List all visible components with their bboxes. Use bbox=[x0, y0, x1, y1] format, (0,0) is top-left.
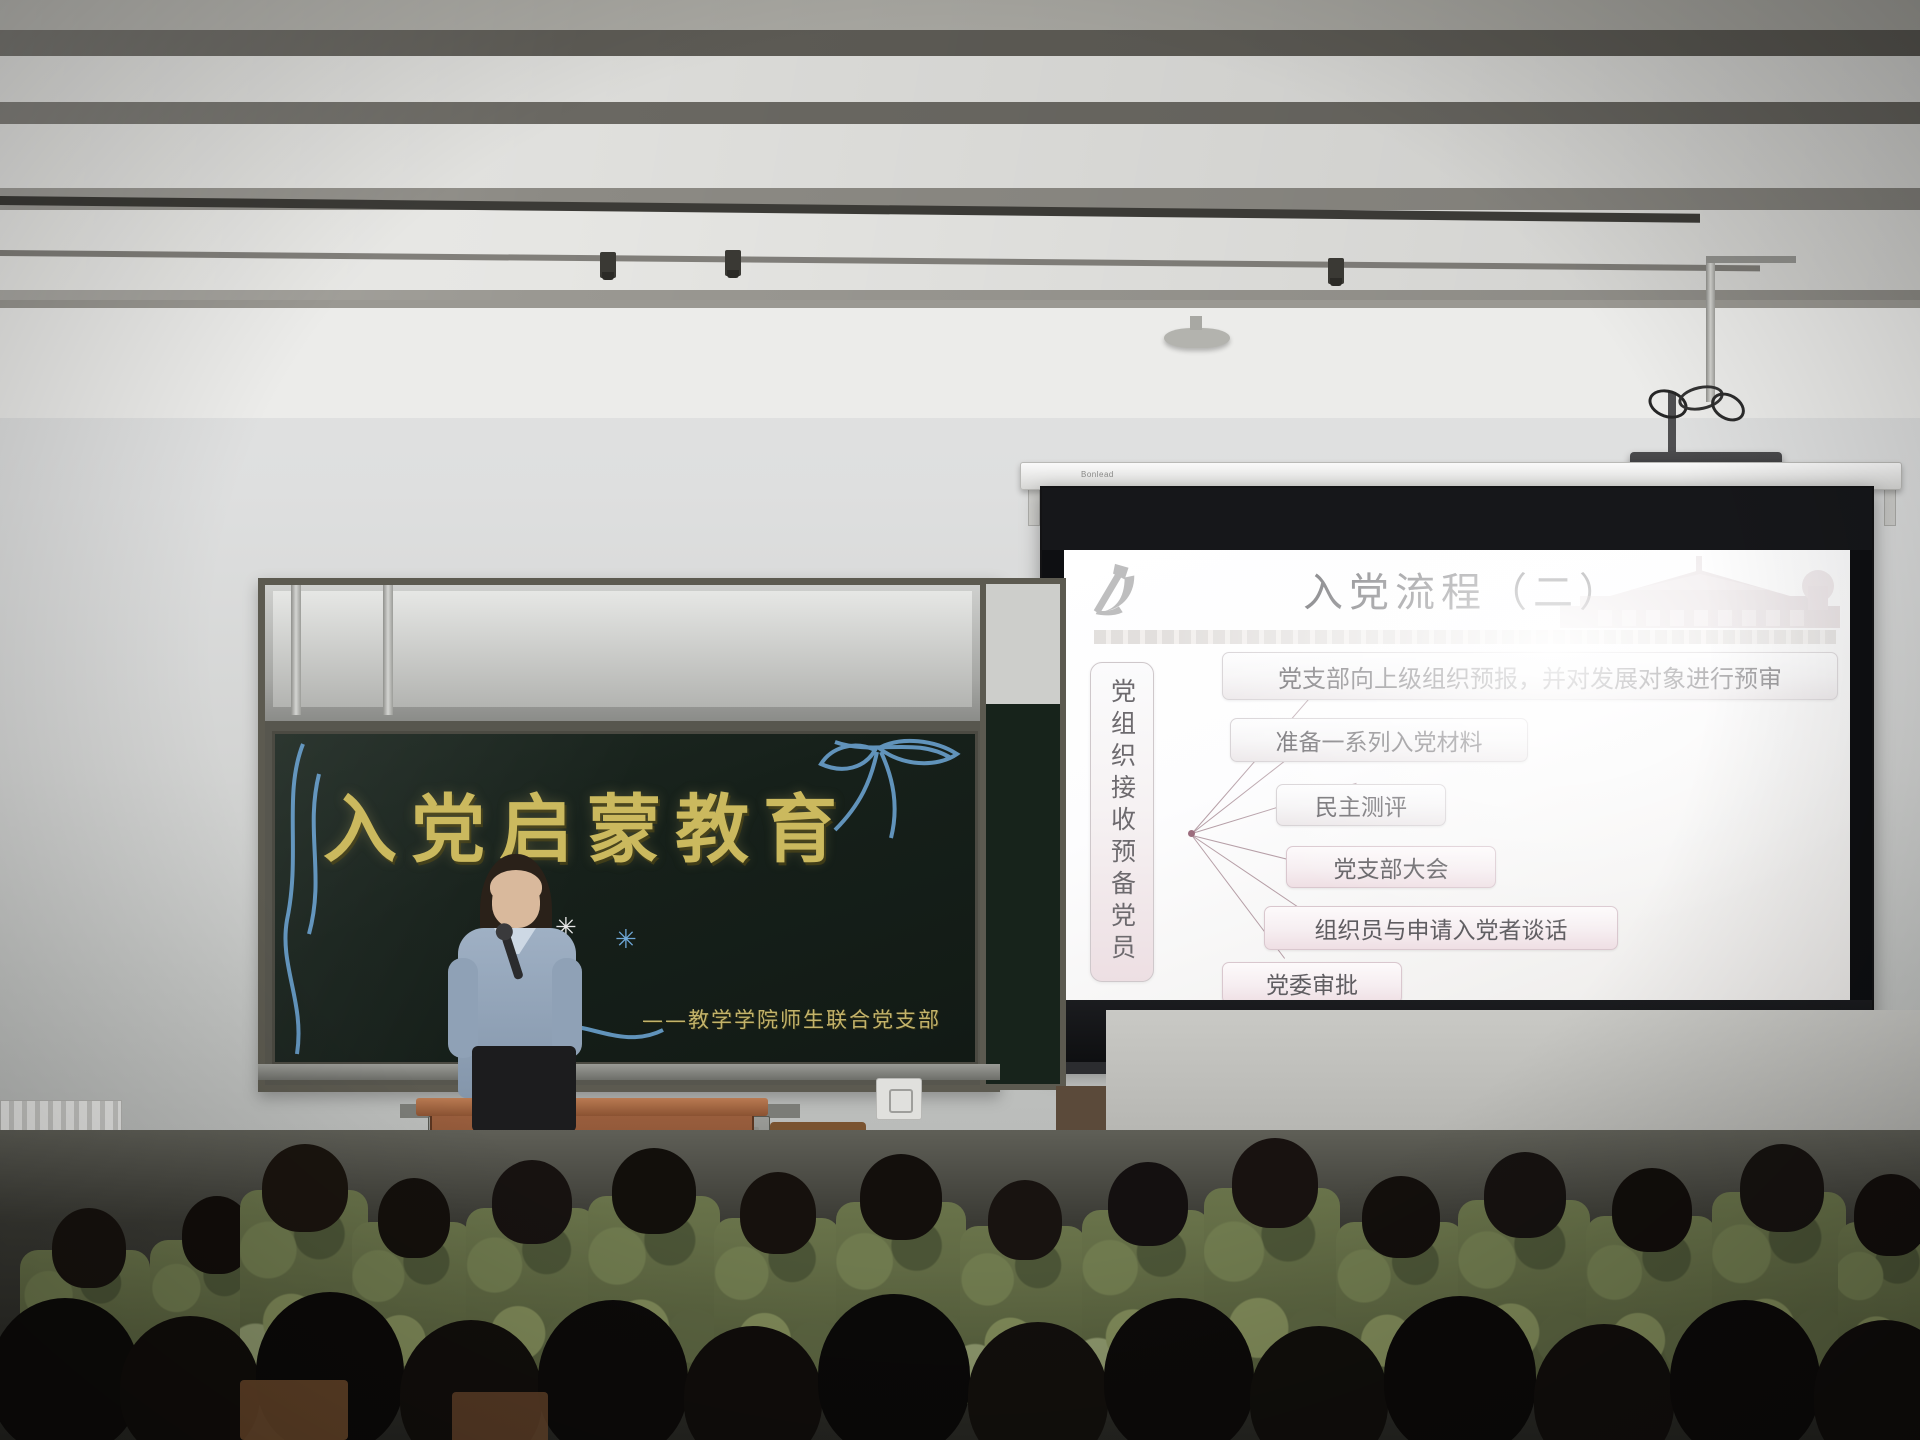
diagram-vertical-label: 党组织接收预备党员 bbox=[1090, 662, 1154, 982]
ceiling-band bbox=[0, 308, 1920, 418]
track-light-icon bbox=[1328, 258, 1344, 284]
blackboard-surface: 入党启蒙教育 ✳ ✳ ——教学学院师生联合党支部 bbox=[272, 731, 978, 1065]
audience-head bbox=[378, 1178, 450, 1258]
chalk-star-icon: ✳ bbox=[615, 924, 637, 955]
slide-header-rule bbox=[1094, 630, 1836, 644]
audience-head bbox=[1484, 1152, 1566, 1238]
blackboard-slide-rail bbox=[291, 585, 301, 715]
tiananmen-skyline-icon bbox=[1550, 556, 1850, 630]
chair-back bbox=[452, 1392, 548, 1440]
slide-header: 入党流程（二） bbox=[1064, 550, 1850, 636]
audience-head bbox=[52, 1208, 126, 1288]
ceiling-pipe bbox=[1706, 256, 1715, 402]
audience-head bbox=[1612, 1168, 1692, 1252]
audience-seating bbox=[0, 1130, 1920, 1440]
blackboard-side-panel bbox=[980, 578, 1066, 1090]
diagram-step-box: 民主测评 bbox=[1276, 784, 1446, 826]
projection-screen: 入党流程（二） bbox=[1040, 486, 1874, 1068]
diagram-center-node bbox=[1188, 830, 1195, 837]
blackboard-side-top bbox=[986, 584, 1060, 704]
audience-head bbox=[612, 1148, 696, 1234]
presenter-arm-left bbox=[448, 958, 478, 1058]
diagram-step-box: 党委审批 bbox=[1222, 962, 1402, 1002]
blackboard-slide-rail bbox=[383, 585, 393, 715]
presenter-arm-right bbox=[552, 958, 582, 1058]
audience-head bbox=[1740, 1144, 1824, 1232]
diagram-step-box: 组织员与申请入党者谈话 bbox=[1264, 906, 1618, 950]
audience-head bbox=[740, 1172, 816, 1254]
audience-head bbox=[860, 1154, 942, 1240]
projector-cables bbox=[1640, 386, 1770, 422]
audience-head bbox=[988, 1180, 1062, 1260]
chair-back bbox=[240, 1380, 348, 1440]
audience-head bbox=[1108, 1162, 1188, 1246]
presenter-bag bbox=[472, 1046, 576, 1132]
ceiling-pipe-horizontal bbox=[1706, 256, 1796, 263]
blackboard-frame: 入党启蒙教育 ✳ ✳ ——教学学院师生联合党支部 bbox=[258, 578, 1000, 1092]
presenter bbox=[450, 862, 580, 1122]
blackboard-headline: 入党启蒙教育 bbox=[323, 770, 923, 877]
diagram-step-box: 准备一系列入党材料 bbox=[1230, 718, 1528, 762]
screen-top-border bbox=[1042, 488, 1872, 550]
diagram-step-box: 党支部向上级组织预报，并对发展对象进行预审 bbox=[1222, 652, 1838, 700]
audience-head bbox=[262, 1144, 348, 1232]
wall-outlet-icon bbox=[876, 1078, 922, 1120]
party-emblem-icon bbox=[1086, 562, 1144, 618]
blackboard-upper-panel bbox=[265, 585, 993, 721]
diagram-step-box: 党支部大会 bbox=[1286, 846, 1496, 888]
audience-head bbox=[1362, 1176, 1440, 1258]
blackboard-signature: ——教学学院师生联合党支部 bbox=[642, 1004, 941, 1034]
lecture-hall-photo: Bonlead 入党流程（二） bbox=[0, 0, 1920, 1440]
presenter-face bbox=[492, 878, 540, 928]
track-light-icon bbox=[600, 252, 616, 278]
screen-brand-label: Bonlead bbox=[1081, 470, 1114, 479]
audience-head bbox=[1232, 1138, 1318, 1228]
smoke-detector-icon bbox=[1164, 328, 1230, 348]
audience-head bbox=[492, 1160, 572, 1244]
presentation-slide: 入党流程（二） bbox=[1064, 550, 1850, 1002]
vertical-label-text: 党组织接收预备党员 bbox=[1110, 678, 1135, 966]
track-light-icon bbox=[725, 250, 741, 276]
blackboard-upper-inner bbox=[273, 591, 972, 707]
audience-head bbox=[1854, 1174, 1920, 1256]
